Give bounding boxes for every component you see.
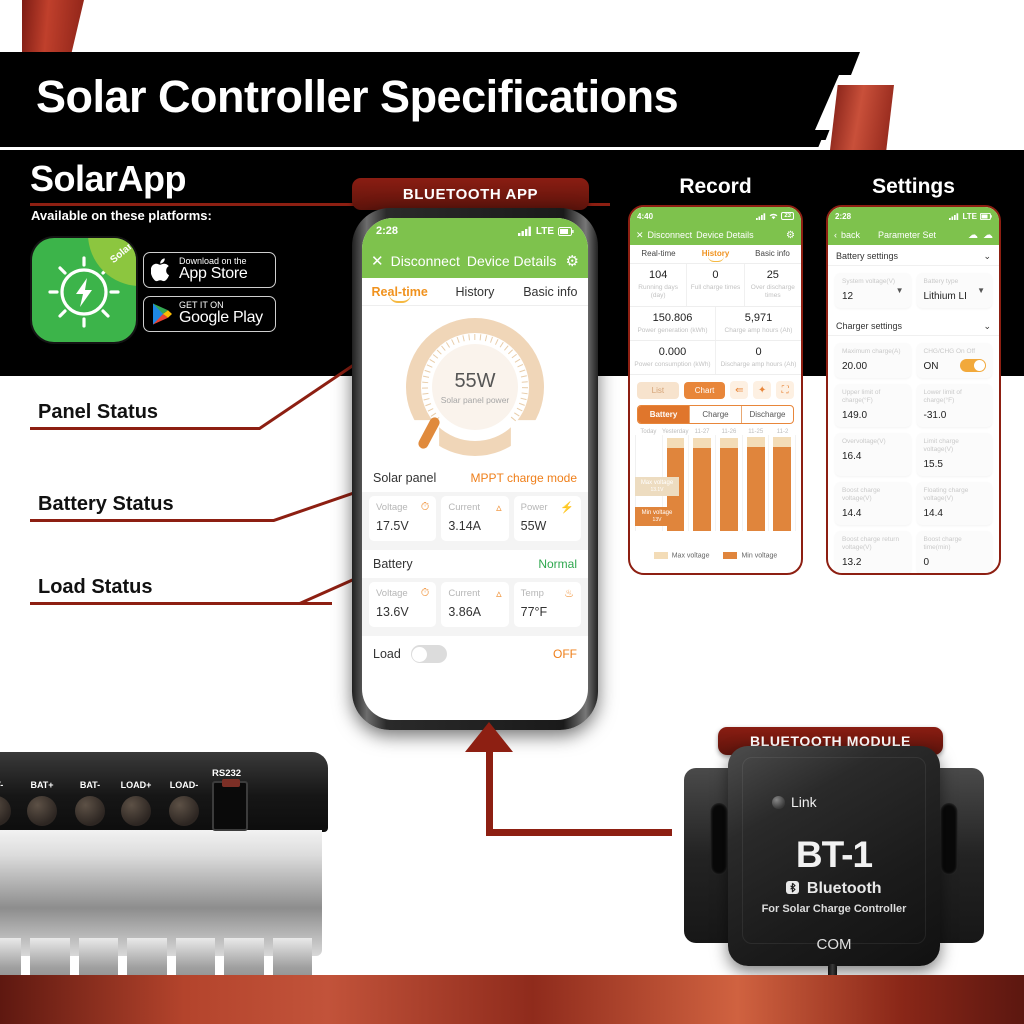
battery-settings-fields: System voltage(V) 12 ▼ Battery type Lith… bbox=[828, 266, 999, 315]
bar-column bbox=[716, 435, 743, 531]
stat-label: Discharge amp hours (Ah) bbox=[718, 361, 799, 368]
terminal-label-pv-minus: PV- bbox=[0, 780, 18, 790]
record-segmented-control: Battery Charge Discharge bbox=[637, 405, 794, 424]
gauge-tick bbox=[490, 337, 493, 343]
gauge-tick bbox=[520, 398, 526, 401]
wifi-icon bbox=[769, 213, 778, 220]
bar-column bbox=[689, 435, 716, 531]
gauge-tick bbox=[462, 335, 465, 341]
solar-panel-title: Solar panel bbox=[373, 471, 436, 485]
nav-bar: ✕ Disconnect Device Details ⚙ bbox=[362, 244, 588, 278]
solar-panel-metrics: Voltage ⏱ 17.5V Current ▵ 3.14A Power ⚡ … bbox=[362, 492, 588, 550]
bluetooth-brand: Bluetooth bbox=[728, 880, 940, 898]
stat-label: Running days (day) bbox=[632, 284, 684, 300]
gauge-center: 55W Solar panel power bbox=[432, 344, 518, 430]
group-title: Battery settings bbox=[836, 251, 898, 262]
field-upper-limit-charge[interactable]: Upper limit of charge(°F) 149.0 bbox=[835, 384, 911, 427]
battery-icon bbox=[558, 227, 574, 236]
broom-icon[interactable]: ✦ bbox=[753, 381, 771, 399]
gauge-tick bbox=[522, 381, 528, 383]
gauge-value: 55W bbox=[454, 370, 495, 393]
bar-segment-max-voltage bbox=[773, 437, 791, 447]
download-icon[interactable]: ☁ bbox=[968, 230, 978, 241]
voltage-icon: ⏱ bbox=[421, 501, 430, 514]
metric-value: 3.86A bbox=[448, 605, 501, 619]
voltage-history-chart[interactable]: Today Yesterday 11-27 11-26 11-25 11-2 M… bbox=[635, 429, 796, 547]
bar-column bbox=[743, 435, 770, 531]
stat-value: 0 bbox=[718, 346, 799, 358]
metric-solar-current: Current ▵ 3.14A bbox=[441, 496, 508, 541]
field-value: 149.0 bbox=[842, 410, 904, 421]
field-system-voltage[interactable]: System voltage(V) 12 ▼ bbox=[835, 273, 911, 308]
stat-discharge-amp-hours: 0 Discharge amp hours (Ah) bbox=[716, 341, 801, 374]
callout-label-battery-status: Battery Status bbox=[38, 493, 174, 516]
terminal-bat-minus bbox=[75, 796, 105, 826]
settings-network: LTE bbox=[962, 212, 977, 221]
solar-power-gauge-area: 55W Solar panel power bbox=[362, 306, 588, 464]
battery-icon bbox=[980, 213, 992, 220]
record-tab-history[interactable]: History bbox=[687, 249, 744, 258]
tooltip-value: 13.1V bbox=[635, 487, 679, 493]
gauge-tick bbox=[433, 354, 439, 359]
callout-load-status: Load Status bbox=[0, 565, 360, 605]
app-icon-badge-label: Solar bbox=[108, 241, 134, 266]
module-subtitle: For Solar Charge Controller bbox=[728, 903, 940, 915]
current-icon: ▵ bbox=[496, 501, 502, 514]
tab-history[interactable]: History bbox=[437, 285, 512, 299]
app-store-text: Download on the App Store bbox=[179, 257, 247, 283]
callout-label-panel-status: Panel Status bbox=[38, 401, 158, 424]
phone-record: 4:40 23 ✕ Disconnect Device Details ⚙ Re… bbox=[628, 205, 803, 575]
gauge-tick bbox=[508, 349, 513, 354]
chg-toggle[interactable] bbox=[960, 359, 986, 372]
rs232-port bbox=[212, 781, 248, 831]
terminal-bat-plus bbox=[27, 796, 57, 826]
back-chevron-icon[interactable]: ‹ bbox=[834, 230, 837, 240]
charger-settings-fields: Maximum charge(A) 20.00 CHG/CHG On Off O… bbox=[828, 336, 999, 575]
field-maximum-charge[interactable]: Maximum charge(A) 20.00 bbox=[835, 343, 911, 378]
tooltip-label: Max voltage bbox=[635, 480, 679, 487]
connection-arrow-horizontal bbox=[486, 829, 672, 836]
gauge-tick bbox=[427, 364, 433, 368]
bluetooth-icon bbox=[786, 881, 799, 894]
field-label: Boost charge return voltage(V) bbox=[842, 536, 904, 553]
solarapp-heading: SolarApp bbox=[30, 158, 186, 200]
segment-discharge[interactable]: Discharge bbox=[742, 406, 793, 423]
field-value: -31.0 bbox=[924, 410, 986, 421]
bar-segment-max-voltage bbox=[720, 438, 738, 448]
solarapp-subtitle: Available on these platforms: bbox=[31, 208, 212, 223]
metric-key: Current bbox=[448, 502, 501, 513]
bar-column bbox=[769, 435, 796, 531]
field-label: Boost charge time(min) bbox=[924, 536, 986, 553]
metric-value: 3.14A bbox=[448, 519, 501, 533]
field-boost-charge-voltage[interactable]: Boost charge voltage(V) 14.4 bbox=[835, 482, 911, 525]
gauge-tick bbox=[425, 370, 431, 373]
field-boost-charge-time[interactable]: Boost charge time(min) 0 bbox=[917, 531, 993, 574]
tooltip-label: Min voltage bbox=[635, 510, 679, 517]
field-value: 14.4 bbox=[924, 508, 986, 519]
load-toggle[interactable] bbox=[411, 645, 447, 663]
metric-value: 55W bbox=[521, 519, 574, 533]
close-icon[interactable]: ✕ bbox=[636, 230, 644, 241]
field-label: Upper limit of charge(°F) bbox=[842, 389, 904, 406]
gear-icon[interactable]: ⚙ bbox=[566, 252, 579, 270]
callout-battery-status: Battery Status bbox=[0, 482, 360, 522]
stat-label: Power generation (kWh) bbox=[632, 327, 713, 334]
close-icon[interactable]: ✕ bbox=[371, 252, 384, 270]
stat-value: 150.806 bbox=[632, 312, 713, 324]
terminal-label-load-plus: LOAD+ bbox=[114, 780, 158, 790]
group-title: Charger settings bbox=[836, 321, 902, 332]
stat-full-charge-times: 0 Full charge times bbox=[687, 264, 744, 306]
chevron-down-icon[interactable]: ▼ bbox=[977, 286, 985, 295]
field-label: Lower limit of charge(°F) bbox=[924, 389, 986, 406]
gauge-tick bbox=[441, 345, 446, 351]
google-play-big: Google Play bbox=[179, 310, 263, 327]
settings-nav-actions: ☁ ☁ bbox=[968, 230, 993, 241]
gauge-tick bbox=[425, 403, 431, 406]
settings-status-right: LTE bbox=[949, 212, 992, 221]
metric-value: 13.6V bbox=[376, 605, 429, 619]
google-play-button[interactable]: GET IT ON Google Play bbox=[143, 296, 276, 332]
battery-status-badge: Normal bbox=[538, 557, 577, 571]
phone-settings: 2:28 LTE ‹ back Parameter Set ☁ ☁ bbox=[826, 205, 1001, 575]
signal-icon bbox=[518, 226, 532, 236]
back-button[interactable]: back bbox=[841, 230, 860, 240]
load-status: OFF bbox=[553, 647, 577, 661]
page-title: Solar Controller Specifications bbox=[36, 66, 836, 128]
record-battery-level: 23 bbox=[781, 212, 794, 220]
record-status-time: 4:40 bbox=[637, 212, 653, 221]
chip-chart-view[interactable]: Chart bbox=[684, 382, 726, 399]
stacked-bar bbox=[693, 438, 711, 531]
record-stats-row-3: 0.000 Power consumption (kWh) 0 Discharg… bbox=[630, 341, 801, 375]
stat-over-discharge-times: 25 Over discharge times bbox=[745, 264, 801, 306]
app-store-big: App Store bbox=[179, 266, 247, 283]
temp-icon: ♨ bbox=[564, 587, 574, 600]
battery-metrics: Voltage ⏱ 13.6V Current ▵ 3.86A Temp ♨ 7… bbox=[362, 578, 588, 636]
phone-main-screen: 2:28 LTE ✕ Disconnect Device Details bbox=[362, 218, 588, 720]
metric-solar-power: Power ⚡ 55W bbox=[514, 496, 581, 541]
metric-battery-current: Current ▵ 3.86A bbox=[441, 582, 508, 627]
disconnect-button[interactable]: Disconnect bbox=[391, 253, 460, 269]
stacked-bar bbox=[720, 438, 738, 531]
field-value: 14.4 bbox=[842, 508, 904, 519]
gauge-tick bbox=[519, 370, 525, 373]
stat-running-days: 104 Running days (day) bbox=[630, 264, 687, 306]
battery-title: Battery bbox=[373, 557, 413, 571]
solar-charge-controller: PV- BAT+ BAT- LOAD+ LOAD- RS232 bbox=[0, 752, 328, 960]
voltage-icon: ⏱ bbox=[421, 587, 430, 600]
gauge-tick bbox=[485, 335, 488, 341]
bar-segment-max-voltage bbox=[667, 438, 685, 448]
module-com-label: COM bbox=[728, 936, 940, 953]
app-store-button[interactable]: Download on the App Store bbox=[143, 252, 276, 288]
gauge-tick bbox=[495, 339, 499, 345]
bluetooth-brand-label: Bluetooth bbox=[807, 880, 882, 897]
callout-panel-status: Panel Status bbox=[0, 390, 360, 430]
callout-label-load-status: Load Status bbox=[38, 576, 152, 599]
load-row: Load OFF bbox=[362, 636, 588, 672]
gauge-tick bbox=[423, 375, 429, 378]
gauge-tick bbox=[517, 408, 523, 412]
bar-segment-min-voltage bbox=[773, 447, 791, 531]
stat-charge-amp-hours: 5,971 Charge amp hours (Ah) bbox=[716, 307, 801, 340]
field-value: Lithium LI bbox=[924, 291, 986, 302]
stacked-bar bbox=[773, 437, 791, 531]
status-network: LTE bbox=[536, 226, 554, 237]
current-icon: ▵ bbox=[496, 587, 502, 600]
legend-min-voltage: Min voltage bbox=[723, 552, 777, 559]
load-title: Load bbox=[373, 647, 401, 661]
record-status-right: 23 bbox=[756, 212, 794, 220]
field-label: Boost charge voltage(V) bbox=[842, 487, 904, 504]
share-icon[interactable]: ⇚ bbox=[730, 381, 748, 399]
gear-icon[interactable]: ⚙ bbox=[786, 230, 795, 241]
record-stats-row-1: 104 Running days (day) 0 Full charge tim… bbox=[630, 264, 801, 307]
gauge-tick bbox=[468, 334, 470, 340]
chevron-up-icon[interactable]: ⌄ bbox=[983, 321, 991, 332]
stat-label: Full charge times bbox=[689, 284, 741, 292]
gauge-tick bbox=[511, 417, 516, 422]
field-label: Battery type bbox=[924, 278, 986, 287]
field-lower-limit-charge[interactable]: Lower limit of charge(°F) -31.0 bbox=[917, 384, 993, 427]
field-label: Limit charge voltage(V) bbox=[924, 438, 986, 455]
gauge-tick bbox=[480, 334, 482, 340]
stat-power-generation: 150.806 Power generation (kWh) bbox=[630, 307, 716, 340]
gauge-tick bbox=[423, 398, 429, 401]
group-battery-settings[interactable]: Battery settings ⌄ bbox=[828, 245, 999, 266]
connection-arrow-shaft bbox=[486, 744, 493, 836]
field-label: Maximum charge(A) bbox=[842, 348, 904, 357]
record-status-bar: 4:40 23 bbox=[630, 207, 801, 225]
apple-icon bbox=[151, 257, 173, 283]
field-value: 12 bbox=[842, 291, 904, 302]
google-play-icon bbox=[151, 302, 173, 326]
link-led-icon bbox=[772, 796, 785, 809]
chevron-down-icon[interactable]: ▼ bbox=[896, 286, 904, 295]
field-value: 0 bbox=[924, 557, 986, 568]
field-limit-charge-voltage[interactable]: Limit charge voltage(V) 15.5 bbox=[917, 433, 993, 476]
power-gauge: 55W Solar panel power bbox=[406, 318, 544, 456]
settings-status-time: 2:28 bbox=[835, 212, 851, 221]
gauge-tick bbox=[517, 364, 523, 368]
field-label: Floating charge voltage(V) bbox=[924, 487, 986, 504]
settings-status-bar: 2:28 LTE bbox=[828, 207, 999, 225]
gauge-tick bbox=[500, 342, 504, 348]
stat-value: 25 bbox=[747, 269, 799, 281]
link-label: Link bbox=[791, 794, 817, 810]
field-value: 20.00 bbox=[842, 361, 904, 372]
gauge-tick bbox=[422, 392, 428, 394]
field-chg-on-off[interactable]: CHG/CHG On Off ON bbox=[917, 343, 993, 378]
phone-main: 2:28 LTE ✕ Disconnect Device Details bbox=[352, 208, 598, 730]
field-label: CHG/CHG On Off bbox=[924, 348, 986, 357]
settings-nav-title: Parameter Set bbox=[878, 230, 936, 240]
record-view-toolbar: List Chart ⇚ ✦ ⛶ bbox=[630, 375, 801, 405]
record-tab-basic-info[interactable]: Basic info bbox=[744, 249, 801, 258]
bluetooth-module-body: Link BT-1 Bluetooth For Solar Charge Con… bbox=[728, 746, 940, 966]
metric-key: Current bbox=[448, 588, 501, 599]
gauge-tick bbox=[451, 339, 455, 345]
signal-icon bbox=[756, 213, 766, 220]
record-disconnect-button[interactable]: Disconnect bbox=[648, 230, 693, 240]
gauge-tick bbox=[519, 403, 525, 406]
gauge-tick bbox=[457, 337, 460, 343]
poster-stage: Solar Controller Specifications SolarApp… bbox=[0, 0, 1024, 1024]
stacked-bar bbox=[747, 437, 765, 532]
terminal-label-bat-minus: BAT- bbox=[68, 780, 112, 790]
upload-icon[interactable]: ☁ bbox=[983, 230, 993, 241]
module-model-name: BT-1 bbox=[728, 834, 940, 876]
stat-value: 5,971 bbox=[718, 312, 799, 324]
gauge-tick bbox=[422, 387, 428, 388]
settings-caption: Settings bbox=[826, 175, 1001, 199]
gauge-needle bbox=[417, 416, 442, 451]
battery-section-header: Battery Normal bbox=[362, 550, 588, 578]
gauge-tick bbox=[521, 375, 527, 378]
settings-nav-bar: ‹ back Parameter Set ☁ ☁ bbox=[828, 225, 999, 245]
metric-battery-temp: Temp ♨ 77°F bbox=[514, 582, 581, 627]
record-nav-bar: ✕ Disconnect Device Details ⚙ bbox=[630, 225, 801, 245]
field-value: 13.2 bbox=[842, 557, 904, 568]
chip-list-view[interactable]: List bbox=[637, 382, 679, 399]
record-tab-bar: Real-time History Basic info bbox=[630, 245, 801, 264]
field-overvoltage[interactable]: Overvoltage(V) 16.4 bbox=[835, 433, 911, 476]
metric-solar-voltage: Voltage ⏱ 17.5V bbox=[369, 496, 436, 541]
status-time: 2:28 bbox=[376, 225, 398, 237]
group-charger-settings[interactable]: Charger settings ⌄ bbox=[828, 315, 999, 336]
metric-battery-voltage: Voltage ⏱ 13.6V bbox=[369, 582, 436, 627]
gauge-tick bbox=[515, 359, 521, 363]
gauge-tick bbox=[429, 359, 435, 363]
bluetooth-app-tag: BLUETOOTH APP bbox=[352, 178, 589, 210]
field-value: 16.4 bbox=[842, 451, 904, 462]
fullscreen-icon[interactable]: ⛶ bbox=[776, 381, 794, 399]
tooltip-max-voltage: Max voltage 13.1V bbox=[635, 477, 679, 496]
signal-icon bbox=[949, 213, 959, 220]
legend-max-voltage: Max voltage bbox=[654, 552, 710, 559]
nav-title: Device Details bbox=[467, 253, 556, 269]
solar-panel-section-header: Solar panel MPPT charge mode bbox=[362, 464, 588, 492]
terminal-load-plus bbox=[121, 796, 151, 826]
field-boost-charge-return-voltage[interactable]: Boost charge return voltage(V) 13.2 bbox=[835, 531, 911, 574]
power-icon: ⚡ bbox=[560, 501, 574, 514]
stat-power-consumption: 0.000 Power consumption (kWh) bbox=[630, 341, 716, 374]
charge-mode-badge: MPPT charge mode bbox=[471, 471, 578, 485]
terminal-load-minus bbox=[169, 796, 199, 826]
gauge-caption: Solar panel power bbox=[441, 395, 510, 405]
bar-segment-max-voltage bbox=[747, 437, 765, 448]
google-play-text: GET IT ON Google Play bbox=[179, 301, 263, 327]
tab-real-time[interactable]: Real-time bbox=[362, 285, 437, 299]
tab-basic-info[interactable]: Basic info bbox=[513, 285, 588, 299]
field-floating-charge-voltage[interactable]: Floating charge voltage(V) 14.4 bbox=[917, 482, 993, 525]
status-right: LTE bbox=[518, 226, 574, 237]
record-tab-real-time[interactable]: Real-time bbox=[630, 249, 687, 258]
stat-value: 104 bbox=[632, 269, 684, 281]
gauge-tick bbox=[512, 354, 518, 359]
bar-segment-min-voltage bbox=[747, 447, 765, 531]
gauge-tick bbox=[504, 345, 509, 351]
field-value: 15.5 bbox=[924, 459, 986, 470]
stat-label: Over discharge times bbox=[747, 284, 799, 300]
record-nav-title: Device Details bbox=[696, 230, 754, 240]
solarapp-app-icon: Solar bbox=[32, 238, 136, 342]
gauge-tick bbox=[522, 392, 528, 394]
gauge-tick bbox=[446, 342, 450, 348]
gauge-tick bbox=[522, 387, 528, 388]
tab-bar: Real-time History Basic info bbox=[362, 278, 588, 306]
bottom-accent-strip bbox=[0, 975, 1024, 1024]
field-label: Overvoltage(V) bbox=[842, 438, 904, 447]
gauge-tick bbox=[422, 381, 428, 383]
bar-segment-min-voltage bbox=[720, 448, 738, 531]
stat-value: 0 bbox=[689, 269, 741, 281]
field-battery-type[interactable]: Battery type Lithium LI ▼ bbox=[917, 273, 993, 308]
bar-segment-max-voltage bbox=[693, 438, 711, 448]
segment-charge[interactable]: Charge bbox=[690, 406, 742, 423]
segment-battery[interactable]: Battery bbox=[638, 406, 690, 423]
field-label: System voltage(V) bbox=[842, 278, 904, 287]
chart-legend: Max voltage Min voltage bbox=[630, 547, 801, 564]
stat-value: 0.000 bbox=[632, 346, 713, 358]
record-caption: Record bbox=[628, 175, 803, 199]
tooltip-value: 13V bbox=[635, 517, 679, 523]
gauge-tick bbox=[437, 349, 442, 354]
stat-label: Charge amp hours (Ah) bbox=[718, 327, 799, 334]
metric-value: 77°F bbox=[521, 605, 574, 619]
ribbon-tail-right bbox=[830, 85, 894, 150]
gauge-tick bbox=[474, 334, 475, 340]
terminal-label-bat-plus: BAT+ bbox=[20, 780, 64, 790]
bluetooth-module: Link BT-1 Bluetooth For Solar Charge Con… bbox=[684, 746, 984, 1001]
metric-value: 17.5V bbox=[376, 519, 429, 533]
controller-heatsink-body bbox=[0, 830, 322, 956]
rs232-label: RS232 bbox=[212, 768, 241, 779]
tooltip-min-voltage: Min voltage 13V bbox=[635, 507, 679, 526]
terminal-label-load-minus: LOAD- bbox=[162, 780, 206, 790]
gauge-tick bbox=[427, 408, 433, 412]
bar-segment-min-voltage bbox=[693, 448, 711, 531]
stat-label: Power consumption (kWh) bbox=[632, 361, 713, 368]
gauge-tick bbox=[514, 412, 520, 416]
record-stats-row-2: 150.806 Power generation (kWh) 5,971 Cha… bbox=[630, 307, 801, 341]
title-banner: Solar Controller Specifications bbox=[0, 0, 1024, 152]
ribbon-tail-left bbox=[22, 0, 84, 58]
chevron-up-icon[interactable]: ⌄ bbox=[983, 251, 991, 262]
status-bar: 2:28 LTE bbox=[362, 218, 588, 244]
